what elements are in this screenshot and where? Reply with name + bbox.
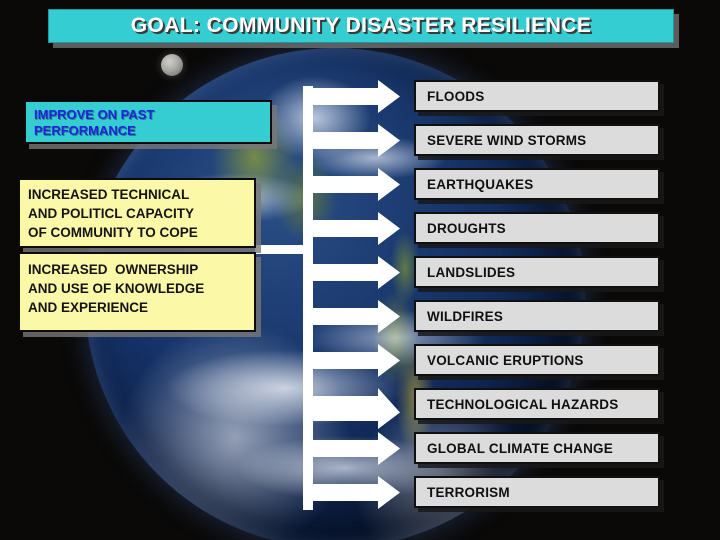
hazard-label: LANDSLIDES [416,265,515,280]
improve-line-1: IMPROVE ON PAST [34,107,262,123]
hazard-box-volcanic-eruptions: VOLCANIC ERUPTIONS [414,344,660,376]
increased-ownership-box: INCREASED OWNERSHIP AND USE OF KNOWLEDGE… [18,252,256,332]
hazard-label: WILDFIRES [416,309,503,324]
hazard-box-terrorism: TERRORISM [414,476,660,508]
hazard-box-landslides: LANDSLIDES [414,256,660,288]
hazard-label: DROUGHTS [416,221,506,236]
moon-image [161,54,183,76]
hazard-box-severe-wind-storms: SEVERE WIND STORMS [414,124,660,156]
page-title: GOAL: COMMUNITY DISASTER RESILIENCE [131,14,591,38]
hazard-box-earthquakes: EARTHQUAKES [414,168,660,200]
hazard-box-wildfires: WILDFIRES [414,300,660,332]
hazard-label: TERRORISM [416,485,510,500]
improve-on-past-performance-box: IMPROVE ON PAST PERFORMANCE [24,100,272,144]
hazard-label: SEVERE WIND STORMS [416,133,586,148]
hazard-box-floods: FLOODS [414,80,660,112]
hazard-box-droughts: DROUGHTS [414,212,660,244]
improve-line-2: PERFORMANCE [34,123,262,139]
hazard-label: TECHNOLOGICAL HAZARDS [416,397,618,412]
slide-title-bar: GOAL: COMMUNITY DISASTER RESILIENCE [48,9,674,43]
hazard-box-technological-hazards: TECHNOLOGICAL HAZARDS [414,388,660,420]
increased-capacity-text: INCREASED TECHNICAL AND POLITICL CAPACIT… [28,185,246,242]
hazard-label: EARTHQUAKES [416,177,533,192]
hazard-label: FLOODS [416,89,484,104]
increased-capacity-box: INCREASED TECHNICAL AND POLITICL CAPACIT… [18,178,256,248]
hazard-box-global-climate-change: GLOBAL CLIMATE CHANGE [414,432,660,464]
hazard-label: GLOBAL CLIMATE CHANGE [416,441,613,456]
hazard-label: VOLCANIC ERUPTIONS [416,353,584,368]
increased-ownership-text: INCREASED OWNERSHIP AND USE OF KNOWLEDGE… [28,260,246,317]
slide-canvas: GOAL: COMMUNITY DISASTER RESILIENCE IMPR… [0,0,720,540]
